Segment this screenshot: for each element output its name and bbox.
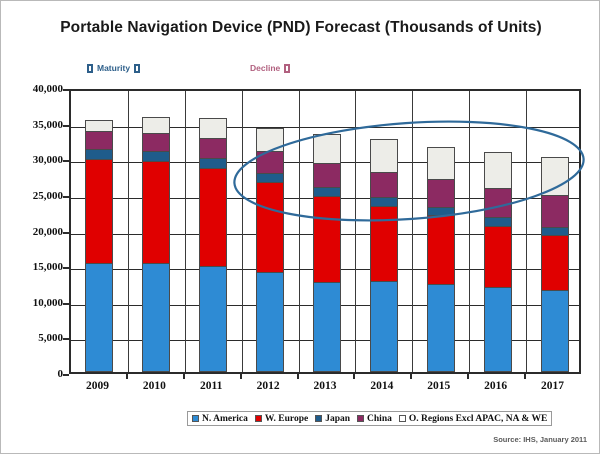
page-title: Portable Navigation Device (PND) Forecas…	[1, 19, 600, 37]
bar-segment[interactable]	[427, 179, 455, 208]
maturity-right-arrow-icon	[134, 64, 140, 73]
bar-segment[interactable]	[541, 195, 569, 228]
bar-segment[interactable]	[199, 266, 227, 372]
bar-segment[interactable]	[256, 272, 284, 372]
bar-slot	[242, 91, 299, 372]
y-axis-tick-mark	[63, 303, 69, 305]
legend: N. AmericaW. EuropeJapanChinaO. Regions …	[187, 411, 552, 426]
x-axis-tick-mark	[297, 374, 299, 379]
bar-slot	[469, 91, 526, 372]
y-axis-tick-mark	[63, 89, 69, 91]
x-axis: 200920102011201220132014201520162017	[69, 380, 581, 398]
x-axis-tick-mark	[240, 374, 242, 379]
annotation-decline-label: Decline	[250, 63, 280, 73]
legend-swatch-icon	[192, 415, 199, 422]
annotation-maturity: Maturity	[87, 63, 140, 73]
bar-segment[interactable]	[541, 290, 569, 372]
y-axis-tick-mark	[63, 338, 69, 340]
bar-segment[interactable]	[541, 235, 569, 291]
y-axis-tick-mark	[63, 196, 69, 198]
bar-segment[interactable]	[370, 281, 398, 372]
bar-segment[interactable]	[370, 206, 398, 282]
stacked-bar[interactable]	[427, 147, 455, 372]
legend-item[interactable]: N. America	[192, 414, 248, 424]
bar-slot	[185, 91, 242, 372]
stacked-bar[interactable]	[256, 128, 284, 372]
x-axis-tick-label: 2011	[200, 380, 222, 392]
source-note: Source: IHS, January 2011	[493, 435, 587, 444]
legend-item[interactable]: O. Regions Excl APAC, NA & WE	[399, 414, 547, 424]
legend-item[interactable]: China	[357, 414, 392, 424]
y-axis-tick-mark	[63, 125, 69, 127]
y-axis-tick-label: 5,000	[38, 332, 63, 344]
x-axis-tick-mark	[353, 374, 355, 379]
bar-segment[interactable]	[484, 188, 512, 219]
bar-segment[interactable]	[313, 196, 341, 282]
x-axis-tick-label: 2017	[541, 380, 564, 392]
stacked-bar[interactable]	[142, 117, 170, 372]
legend-item[interactable]: W. Europe	[255, 414, 308, 424]
bar-slot	[412, 91, 469, 372]
bar-segment[interactable]	[199, 168, 227, 267]
bar-segment[interactable]	[541, 157, 569, 195]
annotation-maturity-label: Maturity	[97, 63, 130, 73]
bar-segment[interactable]	[85, 159, 113, 264]
legend-swatch-icon	[315, 415, 322, 422]
y-axis-tick-mark	[63, 160, 69, 162]
bar-segment[interactable]	[370, 139, 398, 173]
legend-item-label: China	[367, 414, 392, 424]
legend-swatch-icon	[357, 415, 364, 422]
bar-segment[interactable]	[85, 131, 113, 150]
x-axis-tick-mark	[183, 374, 185, 379]
stacked-bar[interactable]	[85, 120, 113, 372]
y-axis-tick-label: 20,000	[33, 226, 63, 238]
bar-segment[interactable]	[484, 226, 512, 288]
x-axis-tick-label: 2010	[143, 380, 166, 392]
y-axis-tick-mark	[63, 374, 69, 376]
x-axis-tick-label: 2013	[314, 380, 337, 392]
x-axis-tick-mark	[524, 374, 526, 379]
stacked-bar[interactable]	[199, 118, 227, 372]
bar-segment[interactable]	[199, 118, 227, 139]
bar-segment[interactable]	[142, 117, 170, 134]
bar-segment[interactable]	[427, 215, 455, 286]
bar-segment[interactable]	[484, 152, 512, 189]
chart-page: Portable Navigation Device (PND) Forecas…	[0, 0, 600, 454]
bar-segment[interactable]	[313, 163, 341, 188]
bar-segment[interactable]	[199, 138, 227, 159]
y-axis-tick-label: 10,000	[33, 297, 63, 309]
bar-segment[interactable]	[484, 287, 512, 373]
bar-segment[interactable]	[85, 263, 113, 372]
plot-area	[69, 89, 581, 374]
y-axis: 40,00035,00030,00025,00020,00015,00010,0…	[1, 89, 63, 374]
legend-item-label: N. America	[202, 414, 248, 424]
legend-swatch-icon	[255, 415, 262, 422]
stacked-bar[interactable]	[370, 139, 398, 372]
bar-segment[interactable]	[142, 133, 170, 152]
bar-segment[interactable]	[313, 282, 341, 372]
stacked-bar[interactable]	[313, 134, 341, 372]
legend-item[interactable]: Japan	[315, 414, 350, 424]
x-axis-tick-label: 2012	[257, 380, 280, 392]
y-axis-tick-label: 30,000	[33, 154, 63, 166]
legend-swatch-icon	[399, 415, 406, 422]
x-axis-tick-label: 2015	[427, 380, 450, 392]
bar-segment[interactable]	[256, 182, 284, 273]
decline-right-arrow-icon	[284, 64, 290, 73]
x-axis-tick-mark	[467, 374, 469, 379]
y-axis-tick-mark	[63, 232, 69, 234]
bar-segment[interactable]	[142, 161, 170, 264]
bar-segment[interactable]	[427, 147, 455, 180]
legend-item-label: W. Europe	[265, 414, 308, 424]
bar-segment[interactable]	[256, 128, 284, 152]
y-axis-tick-label: 15,000	[33, 261, 63, 273]
bar-segment[interactable]	[313, 134, 341, 165]
bar-slot	[355, 91, 412, 372]
bar-slot	[71, 91, 128, 372]
legend-item-label: O. Regions Excl APAC, NA & WE	[409, 414, 547, 424]
x-axis-tick-mark	[410, 374, 412, 379]
bar-slot	[526, 91, 583, 372]
bar-segment[interactable]	[256, 151, 284, 174]
stacked-bar[interactable]	[484, 152, 512, 372]
bar-segment[interactable]	[427, 284, 455, 372]
annotation-decline: Decline	[250, 63, 290, 73]
y-axis-tick-label: 40,000	[33, 83, 63, 95]
x-axis-tick-label: 2009	[86, 380, 109, 392]
y-axis-tick-mark	[63, 267, 69, 269]
bar-slot	[299, 91, 356, 372]
y-axis-tick-label: 25,000	[33, 190, 63, 202]
legend-item-label: Japan	[325, 414, 350, 424]
x-axis-tick-label: 2014	[370, 380, 393, 392]
x-axis-tick-label: 2016	[484, 380, 507, 392]
bar-slot	[128, 91, 185, 372]
bar-segment[interactable]	[142, 263, 170, 372]
maturity-left-arrow-icon	[87, 64, 93, 73]
stacked-bar[interactable]	[541, 157, 569, 372]
y-axis-tick-label: 35,000	[33, 119, 63, 131]
bar-segment[interactable]	[370, 172, 398, 198]
x-axis-tick-mark	[126, 374, 128, 379]
